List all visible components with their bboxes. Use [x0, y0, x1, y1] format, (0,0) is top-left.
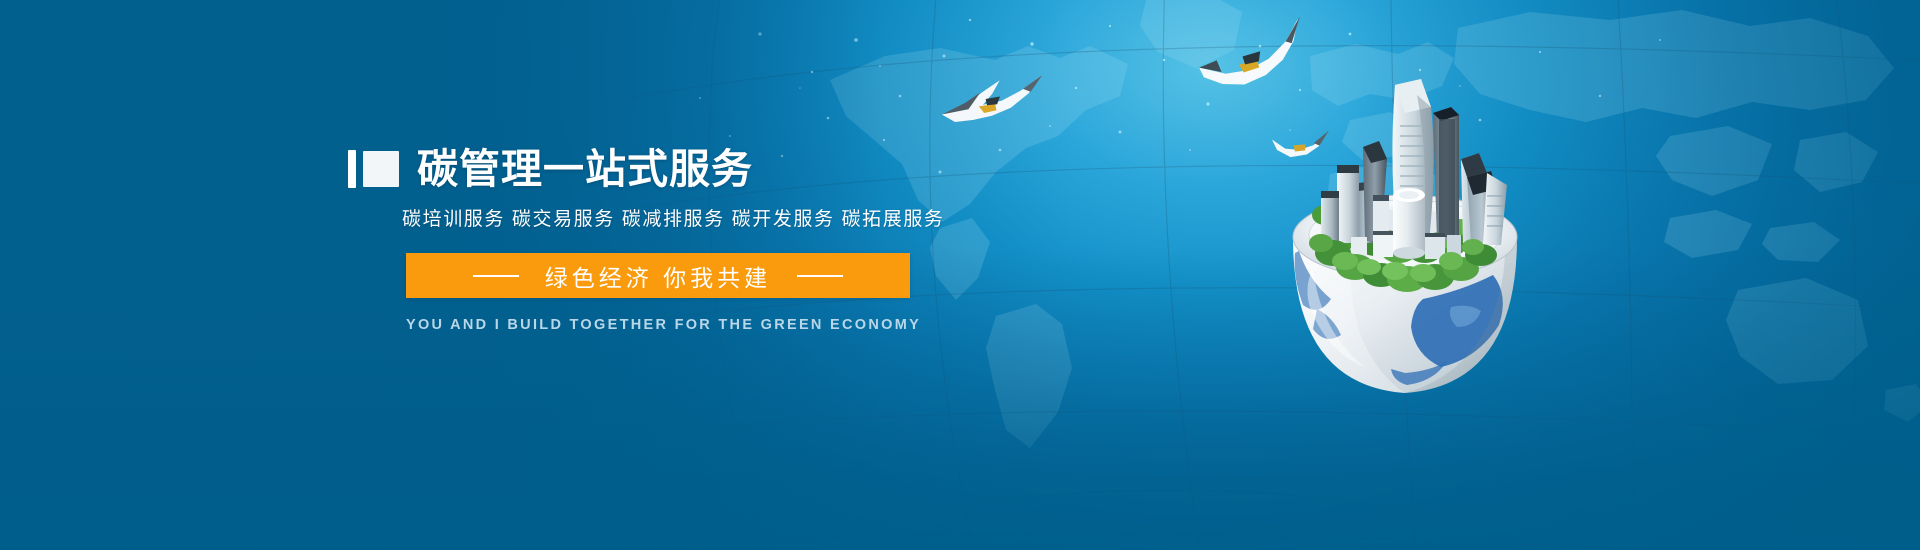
earth-hemisphere-city-illustration [1255, 55, 1555, 400]
services-list: 碳培训服务 碳交易服务 碳减排服务 碳开发服务 碳拓展服务 [402, 204, 1108, 231]
logo-bar-icon [348, 150, 356, 188]
carbon-management-banner: 碳管理一站式服务 碳培训服务 碳交易服务 碳减排服务 碳开发服务 碳拓展服务 绿… [0, 0, 1920, 550]
banner-content: 碳管理一站式服务 碳培训服务 碳交易服务 碳减排服务 碳开发服务 碳拓展服务 绿… [348, 146, 1108, 333]
slogan-right-rule-icon [797, 275, 843, 277]
english-tagline: YOU AND I BUILD TOGETHER FOR THE GREEN E… [406, 317, 1108, 333]
logo-square-icon [363, 151, 399, 187]
brand-logo-mark [348, 150, 399, 188]
page-title: 碳管理一站式服务 [417, 149, 753, 190]
title-row: 碳管理一站式服务 [348, 146, 1108, 192]
slogan-bar: 绿色经济 你我共建 [406, 253, 910, 298]
slogan-left-rule-icon [473, 275, 519, 277]
seagull-icon [937, 54, 1054, 137]
slogan-text: 绿色经济 你我共建 [545, 259, 771, 293]
